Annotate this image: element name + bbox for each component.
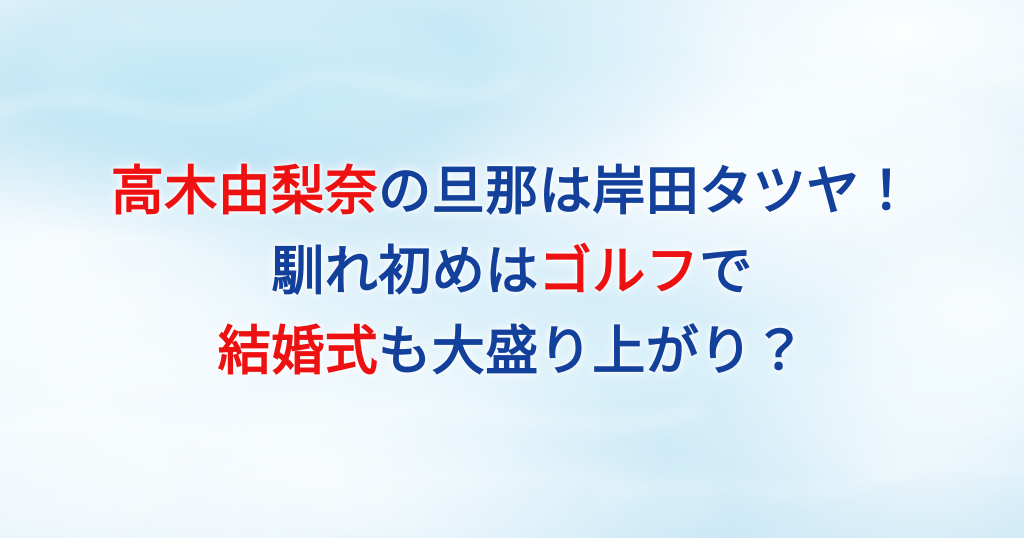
headline-line-1-segment-2: の旦那は岸田タツヤ！ bbox=[378, 162, 913, 221]
headline-line-3: 結婚式も大盛り上がり？ bbox=[0, 312, 1024, 392]
headline-line-2-segment-1: 馴れ初めは bbox=[271, 242, 539, 301]
headline-line-2-segment-3: で bbox=[699, 242, 753, 301]
headline-block: 高木由梨奈の旦那は岸田タツヤ！ 馴れ初めはゴルフで 結婚式も大盛り上がり？ bbox=[0, 152, 1024, 392]
headline-line-2: 馴れ初めはゴルフで bbox=[0, 232, 1024, 312]
thumbnail-canvas: 高木由梨奈の旦那は岸田タツヤ！ 馴れ初めはゴルフで 結婚式も大盛り上がり？ bbox=[0, 0, 1024, 538]
headline-line-3-segment-1: 結婚式 bbox=[218, 322, 379, 381]
headline-line-3-segment-2: も大盛り上がり？ bbox=[378, 322, 806, 381]
headline-line-2-segment-2: ゴルフ bbox=[539, 242, 700, 301]
headline-line-1: 高木由梨奈の旦那は岸田タツヤ！ bbox=[0, 152, 1024, 232]
headline-line-1-segment-1: 高木由梨奈 bbox=[111, 162, 379, 221]
